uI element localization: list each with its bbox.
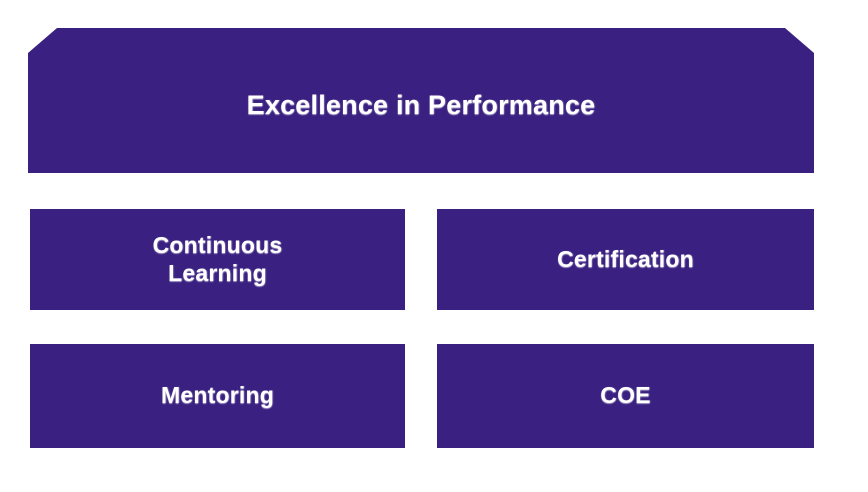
block-certification: Certification [437,209,814,310]
block-mentoring-label: Mentoring [161,382,274,409]
block-coe: COE [437,344,814,448]
block-mentoring: Mentoring [30,344,405,448]
block-certification-label: Certification [557,246,694,273]
block-continuous-learning: Continuous Learning [30,209,405,310]
banner-excellence-in-performance: Excellence in Performance [28,28,814,173]
diagram-canvas: Excellence in Performance Continuous Lea… [0,0,868,492]
block-continuous-learning-label: Continuous Learning [153,232,283,286]
banner-label: Excellence in Performance [247,80,596,122]
block-coe-label: COE [600,382,650,409]
